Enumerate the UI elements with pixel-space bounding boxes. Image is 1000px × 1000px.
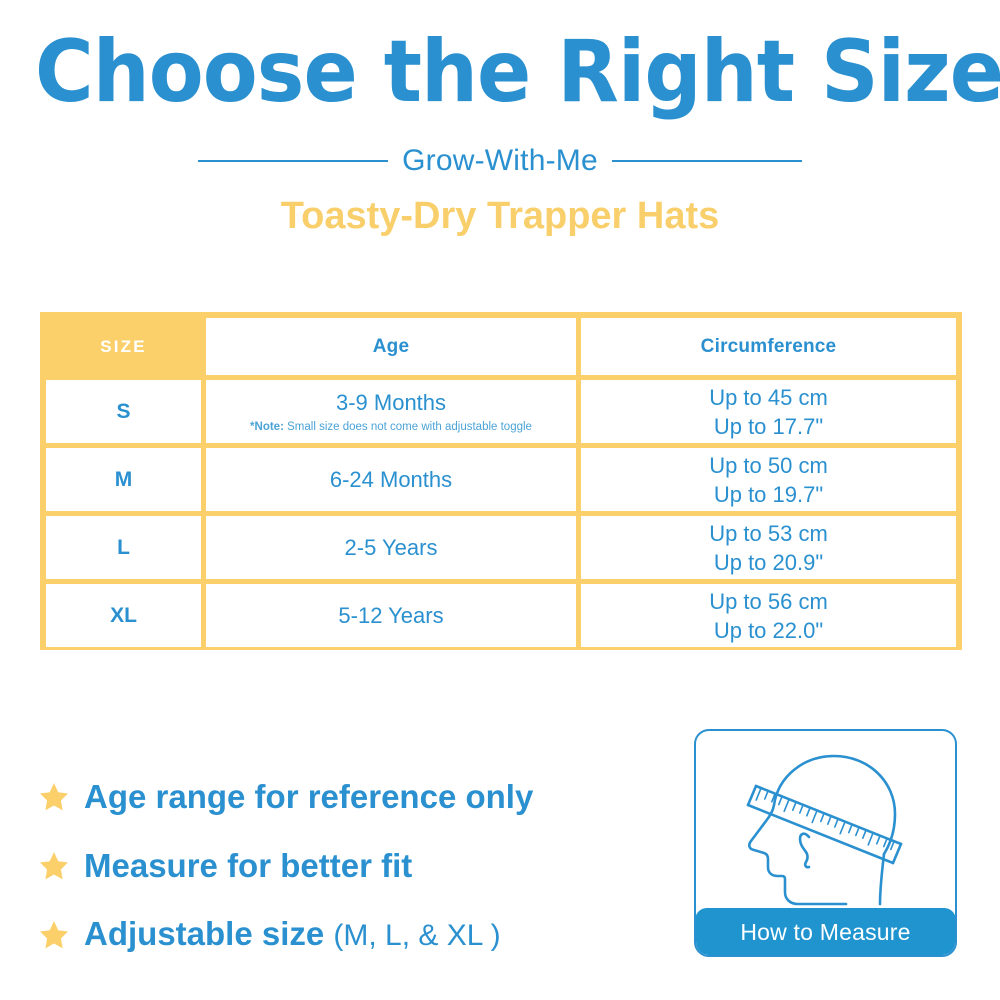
- age-value: 6-24 Months: [330, 465, 452, 494]
- age-value: 2-5 Years: [345, 533, 438, 562]
- size-note: *Note: Small size does not come with adj…: [250, 420, 532, 435]
- circumference-cm: Up to 45 cm: [709, 383, 828, 412]
- column-header-circumference-label: Circumference: [701, 336, 837, 358]
- bullet-list: Age range for reference only Measure for…: [38, 762, 678, 969]
- circumference-in: Up to 22.0": [714, 616, 823, 645]
- cell-size: XL: [46, 584, 201, 647]
- cell-size: L: [46, 516, 201, 579]
- cell-circumference: Up to 45 cm Up to 17.7": [581, 380, 956, 443]
- list-item-label: Measure for better fit: [84, 847, 412, 885]
- cell-size: S: [46, 380, 201, 443]
- size-label: S: [116, 400, 130, 424]
- cell-circumference: Up to 53 cm Up to 20.9": [581, 516, 956, 579]
- cell-size: M: [46, 448, 201, 511]
- star-icon: [38, 781, 70, 813]
- subtitle-row: Grow-With-Me: [0, 143, 1000, 179]
- how-to-measure-label: How to Measure: [740, 919, 910, 945]
- subtitle-rule-right: [612, 160, 802, 162]
- size-label: XL: [110, 604, 137, 628]
- age-value: 5-12 Years: [338, 601, 443, 630]
- size-note-text: Small size does not come with adjustable…: [284, 421, 532, 433]
- how-to-measure-bar[interactable]: How to Measure: [695, 908, 956, 956]
- circumference-in: Up to 20.9": [714, 548, 823, 577]
- circumference-cm: Up to 56 cm: [709, 587, 828, 616]
- size-label: L: [117, 536, 130, 560]
- how-to-measure-card[interactable]: How to Measure: [694, 729, 957, 957]
- table-row: M 6-24 Months Up to 50 cm Up to 19.7": [46, 448, 956, 511]
- table-row: XL 5-12 Years Up to 56 cm Up to 22.0": [46, 584, 956, 647]
- circumference-in: Up to 19.7": [714, 480, 823, 509]
- column-header-age: Age: [206, 318, 576, 375]
- cell-age: 2-5 Years: [206, 516, 576, 579]
- subtitle: Grow-With-Me: [402, 143, 598, 179]
- cell-circumference: Up to 50 cm Up to 19.7": [581, 448, 956, 511]
- size-chart-page: Choose the Right Size Grow-With-Me Toast…: [0, 0, 1000, 1000]
- cell-age: 5-12 Years: [206, 584, 576, 647]
- column-header-size: SIZE: [46, 318, 201, 375]
- circumference-cm: Up to 53 cm: [709, 519, 828, 548]
- table-row: S 3-9 Months *Note: Small size does not …: [46, 380, 956, 443]
- column-header-age-label: Age: [373, 336, 410, 358]
- list-item-label: Age range for reference only: [84, 778, 533, 816]
- head-profile-with-measuring-tape-icon: [696, 731, 954, 916]
- column-header-circumference: Circumference: [581, 318, 956, 375]
- subtitle-rule-left: [198, 160, 388, 162]
- page-title: Choose the Right Size: [35, 24, 965, 120]
- list-item: Measure for better fit: [38, 831, 678, 900]
- list-item-text: Age range for reference only: [84, 778, 533, 815]
- size-label: M: [115, 468, 133, 492]
- star-icon: [38, 850, 70, 882]
- list-item: Age range for reference only: [38, 762, 678, 831]
- list-item: Adjustable size (M, L, & XL ): [38, 900, 678, 969]
- list-item-suffix: (M, L, & XL ): [333, 919, 500, 952]
- size-note-prefix: *Note:: [250, 421, 284, 433]
- list-item-label: Adjustable size (M, L, & XL ): [84, 915, 501, 955]
- circumference-cm: Up to 50 cm: [709, 451, 828, 480]
- list-item-text: Measure for better fit: [84, 847, 412, 884]
- table-row: L 2-5 Years Up to 53 cm Up to 20.9": [46, 516, 956, 579]
- list-item-text: Adjustable size: [84, 915, 333, 952]
- cell-age: 3-9 Months *Note: Small size does not co…: [206, 380, 576, 443]
- age-value: 3-9 Months: [336, 388, 446, 417]
- circumference-in: Up to 17.7": [714, 412, 823, 441]
- star-icon: [38, 919, 70, 951]
- size-table: SIZE Age Circumference S 3-9 Months *Not…: [40, 312, 962, 650]
- cell-age: 6-24 Months: [206, 448, 576, 511]
- table-header-row: SIZE Age Circumference: [46, 318, 956, 375]
- cell-circumference: Up to 56 cm Up to 22.0": [581, 584, 956, 647]
- product-line: Toasty-Dry Trapper Hats: [0, 192, 1000, 240]
